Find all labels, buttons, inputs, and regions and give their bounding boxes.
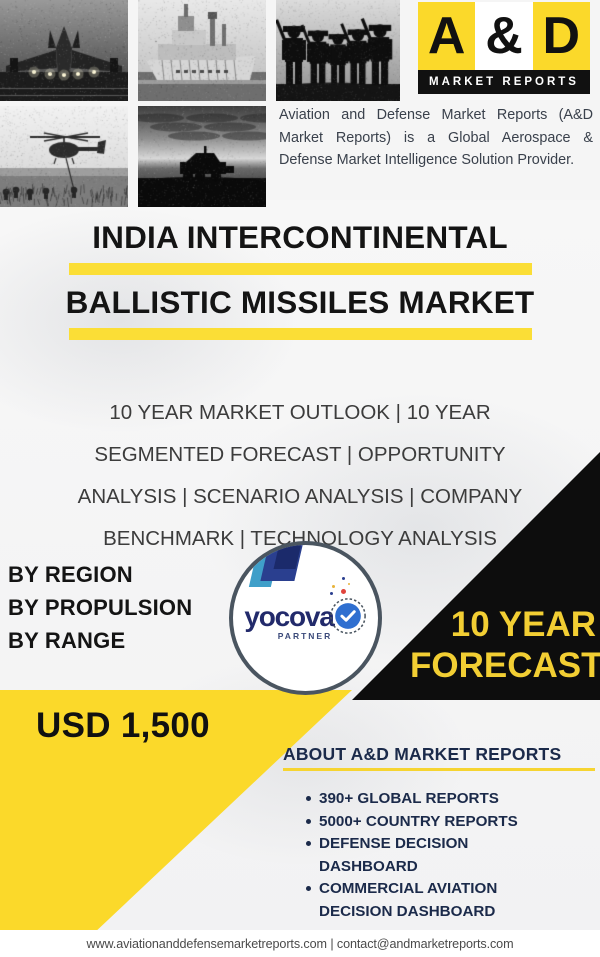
title-line-1: INDIA INTERCONTINENTAL [0, 216, 600, 258]
company-intro-text: Aviation and Defense Market Reports (A&D… [279, 104, 593, 172]
segmentation-list: BY REGION BY PROPULSION BY RANGE [8, 558, 192, 657]
logo-letters: A & D [418, 2, 590, 70]
naval-warship-photo [138, 0, 266, 101]
badge-confetti-dots [328, 577, 354, 597]
logo-letter-d: D [533, 2, 590, 70]
segment-item-propulsion: BY PROPULSION [8, 591, 192, 624]
footer-contact-text: www.aviationanddefensemarketreports.com … [87, 937, 514, 951]
segment-item-range: BY RANGE [8, 624, 192, 657]
military-helicopter-photo [0, 106, 128, 207]
title-divider-1 [69, 263, 532, 275]
logo-letter-a: A [418, 2, 475, 70]
about-heading: ABOUT A&D MARKET REPORTS [283, 744, 595, 765]
fighter-jet-photo [0, 0, 128, 101]
report-scope-subtitle: 10 YEAR MARKET OUTLOOK | 10 YEAR SEGMENT… [48, 392, 552, 560]
title-line-2: BALLISTIC MISSILES MARKET [0, 281, 600, 323]
about-list-item: DASHBOARD [319, 856, 595, 878]
forecast-callout: 10 YEAR FORECAST [410, 604, 596, 686]
about-section: ABOUT A&D MARKET REPORTS 390+ GLOBAL REP… [283, 744, 595, 923]
logo-tagline-bar: MARKET REPORTS [418, 70, 590, 94]
armored-vehicle-photo [138, 106, 266, 207]
title-divider-2 [69, 328, 532, 340]
poster-page: A & D MARKET REPORTS Aviation and Defens… [0, 0, 600, 957]
about-list-item: DECISION DASHBOARD [319, 901, 595, 923]
ad-market-reports-logo: A & D MARKET REPORTS [418, 2, 590, 94]
logo-ampersand: & [475, 2, 532, 70]
about-list-item: DEFENSE DECISION [319, 833, 595, 855]
about-list-item: COMMERCIAL AVIATION [319, 878, 595, 900]
about-heading-underline [283, 768, 595, 771]
forecast-line-2: FORECAST [410, 645, 596, 686]
price-label: USD 1,500 [36, 706, 286, 746]
report-title: INDIA INTERCONTINENTAL BALLISTIC MISSILE… [0, 216, 600, 346]
about-bullet-list: 390+ GLOBAL REPORTS5000+ COUNTRY REPORTS… [283, 788, 595, 922]
logo-tagline: MARKET REPORTS [429, 76, 579, 88]
about-list-item: 5000+ COUNTRY REPORTS [319, 811, 595, 833]
forecast-line-1: 10 YEAR [410, 604, 596, 645]
about-list-item: 390+ GLOBAL REPORTS [319, 788, 595, 810]
segment-item-region: BY REGION [8, 558, 192, 591]
badge-brand-name: yocova [243, 602, 335, 632]
soldiers-silhouette-photo [276, 0, 400, 101]
yocova-partner-badge: yocova PARTNER [229, 541, 382, 695]
footer-bar: www.aviationanddefensemarketreports.com … [0, 930, 600, 957]
verified-check-seal-icon [329, 597, 367, 635]
